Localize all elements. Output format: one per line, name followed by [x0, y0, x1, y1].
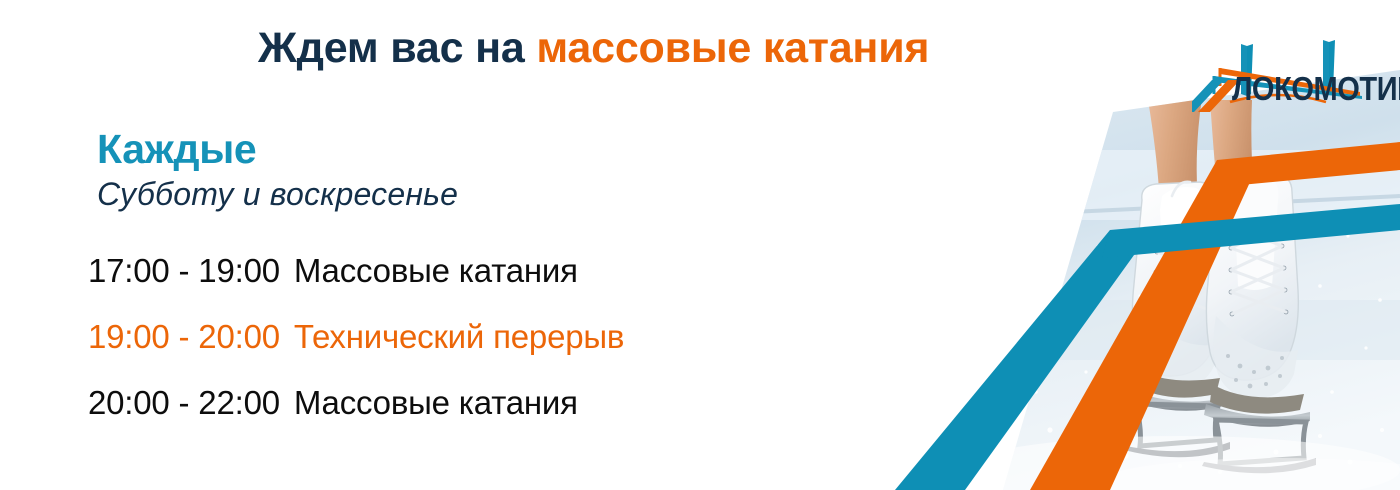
list-item: 20:00 - 22:00 Массовые катания	[88, 384, 868, 450]
list-item: 17:00 - 19:00 Массовые катания	[88, 252, 868, 318]
schedule-frequency-title: Каждые	[97, 126, 256, 173]
headline-accent: массовые катания	[536, 24, 929, 72]
promo-banner: Ждем вас на массовые катания Каждые Субб…	[0, 0, 1400, 490]
headline-lead: Ждем вас на	[258, 24, 536, 72]
logo[interactable]: ЛОКОМОТИВ	[1192, 16, 1388, 112]
session-label: Массовые катания	[294, 384, 578, 422]
schedule-list: 17:00 - 19:00 Массовые катания 19:00 - 2…	[88, 252, 868, 450]
list-item: 19:00 - 20:00 Технический перерыв	[88, 318, 868, 384]
page-title: Ждем вас на массовые катания	[258, 24, 929, 73]
session-label: Технический перерыв	[294, 318, 624, 356]
schedule-frequency-days: Субботу и воскресенье	[97, 176, 458, 213]
session-label: Массовые катания	[294, 252, 578, 290]
session-time: 20:00 - 22:00	[88, 384, 280, 422]
session-time: 17:00 - 19:00	[88, 252, 280, 290]
session-time: 19:00 - 20:00	[88, 318, 280, 356]
logo-wordmark: ЛОКОМОТИВ	[1232, 70, 1400, 108]
